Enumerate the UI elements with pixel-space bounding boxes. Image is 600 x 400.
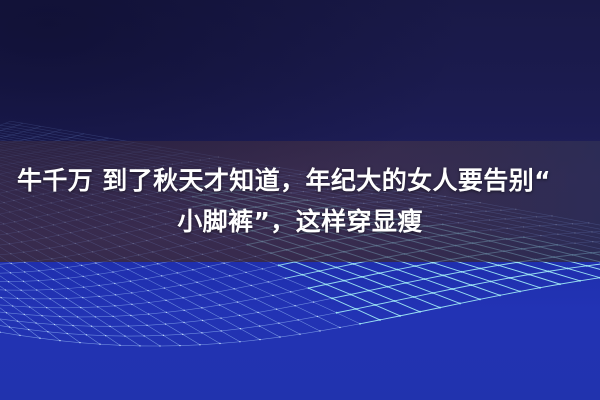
headline: 牛千万 到了秋天才知道，年纪大的女人要告别“ 小脚裤”，这样穿显瘦: [0, 160, 600, 242]
headline-line-2: 小脚裤”，这样穿显瘦: [0, 201, 600, 242]
headline-line-1: 牛千万 到了秋天才知道，年纪大的女人要告别“: [0, 160, 600, 201]
promo-banner: 牛千万 到了秋天才知道，年纪大的女人要告别“ 小脚裤”，这样穿显瘦: [0, 0, 600, 400]
